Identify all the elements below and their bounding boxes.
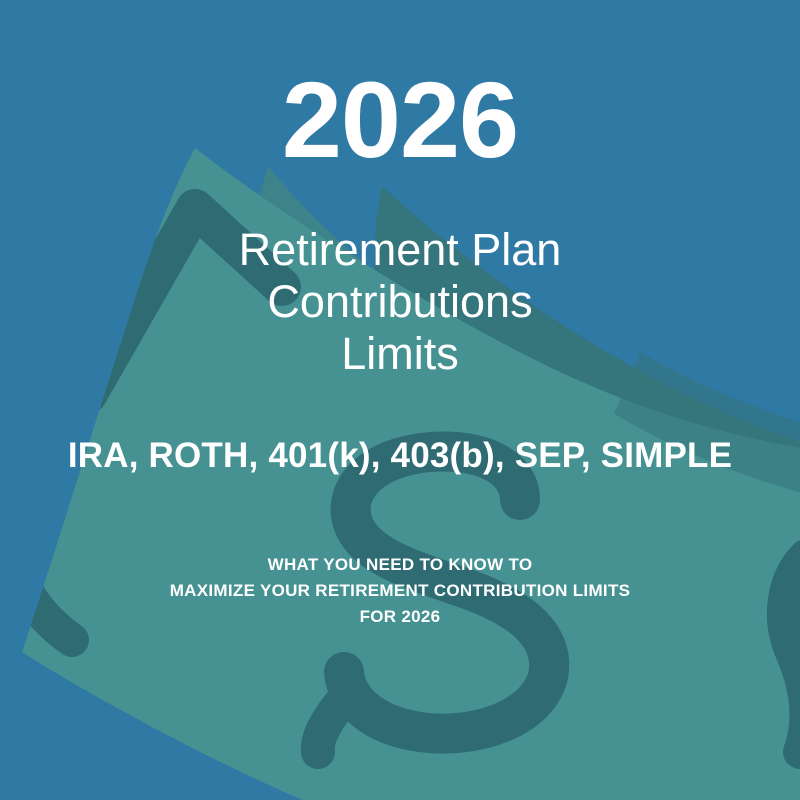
subtitle-block: Retirement Plan Contributions Limits <box>0 224 800 380</box>
subtitle-line-2: Contributions <box>0 276 800 328</box>
year-headline: 2026 <box>0 66 800 174</box>
plan-types-line: IRA, ROTH, 401(k), 403(b), SEP, SIMPLE <box>0 438 800 473</box>
caption-block: WHAT YOU NEED TO KNOW TO MAXIMIZE YOUR R… <box>0 552 800 630</box>
caption-line-2: MAXIMIZE YOUR RETIREMENT CONTRIBUTION LI… <box>0 578 800 604</box>
subtitle-line-1: Retirement Plan <box>0 224 800 276</box>
poster-text-content: 2026 Retirement Plan Contributions Limit… <box>0 0 800 800</box>
poster-canvas: 2026 Retirement Plan Contributions Limit… <box>0 0 800 800</box>
subtitle-line-3: Limits <box>0 328 800 380</box>
caption-line-1: WHAT YOU NEED TO KNOW TO <box>0 552 800 578</box>
caption-line-3: FOR 2026 <box>0 604 800 630</box>
